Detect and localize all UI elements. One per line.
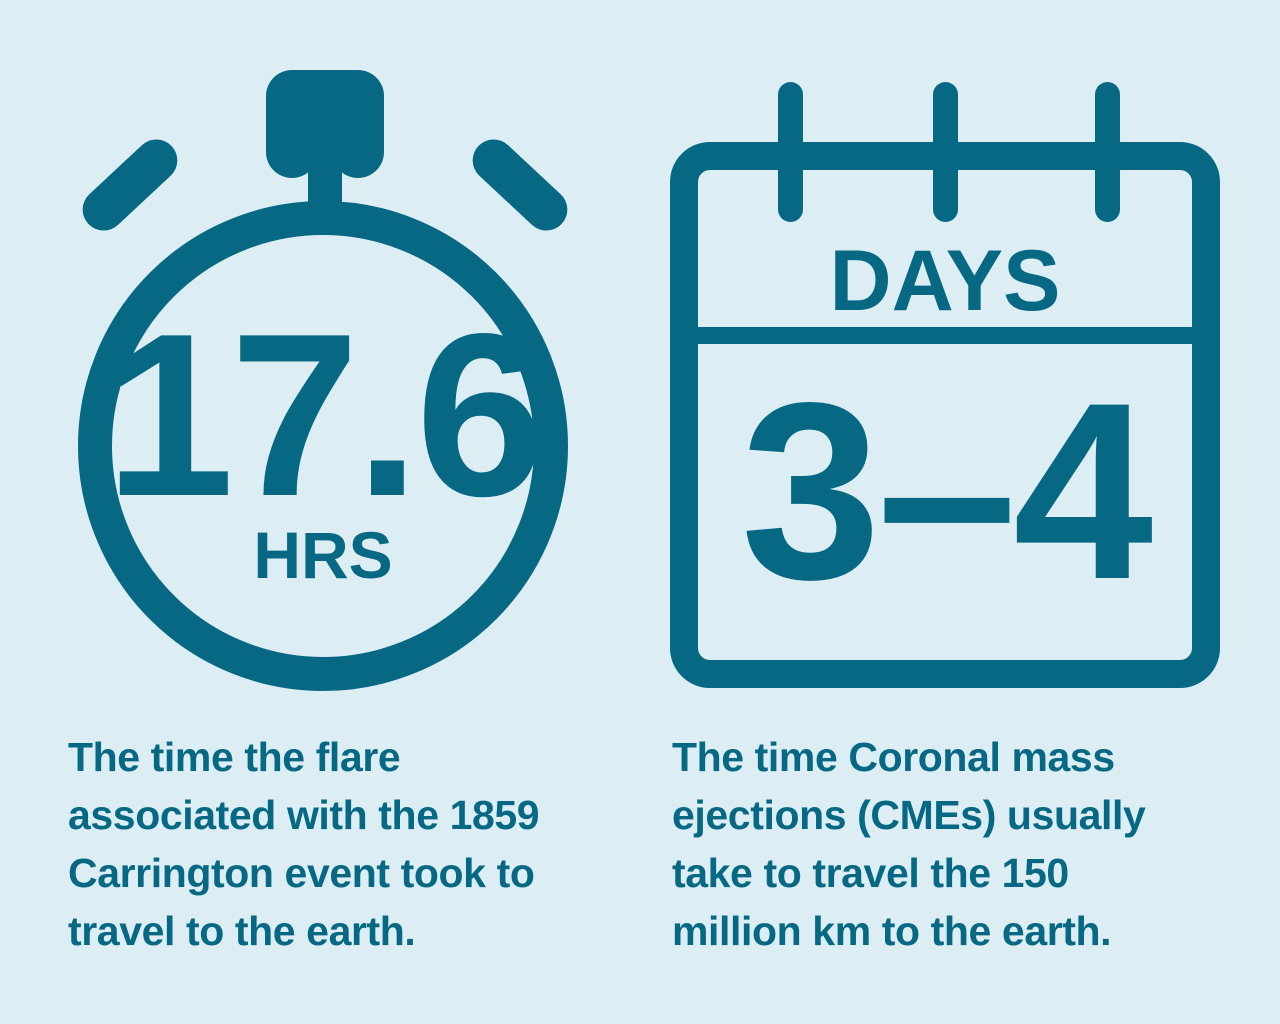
calendar-icon: DAYS 3–4 (660, 60, 1240, 695)
stopwatch-value: 17.6 (105, 286, 541, 545)
calendar-header-label: DAYS (829, 233, 1060, 329)
stopwatch-left-wing (74, 131, 186, 239)
stopwatch-unit-label: HRS (253, 518, 392, 592)
stopwatch-icon: 17.6 HRS (55, 70, 595, 695)
infographic-root: 17.6 HRS The time the flare associated w… (0, 0, 1280, 1024)
stat-grid: 17.6 HRS The time the flare associated w… (0, 0, 1280, 1024)
stat-caption-flare-travel-time: The time the flare associated with the 1… (68, 728, 608, 960)
calendar-value: 3–4 (741, 351, 1152, 632)
calendar-header-divider (684, 327, 1206, 344)
stat-caption-cme-travel-time: The time Coronal mass ejections (CMEs) u… (672, 728, 1217, 960)
stopwatch-right-wing (464, 131, 576, 239)
calendar-icon-area: DAYS 3–4 (660, 60, 1240, 695)
stat-card-flare-travel-time: 17.6 HRS The time the flare associated w… (0, 0, 640, 1024)
stopwatch-icon-area: 17.6 HRS (55, 70, 595, 695)
stat-card-cme-travel-time: DAYS 3–4 The time Coronal mass ejections… (640, 0, 1280, 1024)
